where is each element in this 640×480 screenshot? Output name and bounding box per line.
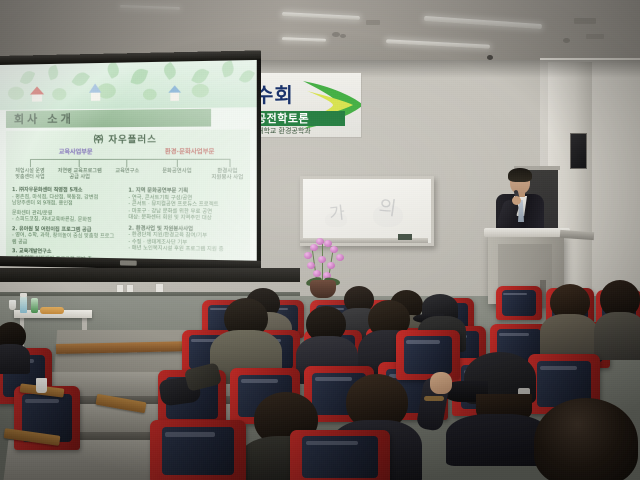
orchid-bloom: [307, 262, 315, 269]
auditorium-seat[interactable]: [150, 420, 246, 480]
orchid-bloom: [330, 246, 338, 253]
projection-screen: 회사 소개 ㈜ 자우플러스 교육사업부문 환경·문화사업부문 체험시설 운영 맞…: [0, 50, 261, 276]
wrist-band: [424, 396, 444, 401]
banner-green-text: 공전학토론: [256, 111, 346, 126]
orchid-pot: [310, 280, 336, 298]
banner-subtitle: 대학교 환경공학과: [257, 127, 311, 135]
presenter-hand: [512, 196, 521, 205]
orchid-bloom: [336, 254, 344, 261]
orchid-bloom: [327, 262, 335, 269]
orchid-bloom: [316, 238, 324, 245]
green-bottle[interactable]: [31, 298, 38, 313]
auditorium-photo: 수회 공전학토론 대학교 환경공학과: [0, 0, 640, 480]
audience-member: [0, 322, 30, 368]
whiteboard-smudge: [325, 213, 347, 227]
orchid-bloom: [310, 244, 318, 251]
orchid-bloom: [304, 252, 312, 259]
presenter-hair: [508, 168, 532, 182]
whiteboard-eraser[interactable]: [398, 234, 412, 240]
audience-shoulders: [594, 312, 640, 360]
screen-pull-tab[interactable]: [120, 260, 137, 265]
paper-cup[interactable]: [36, 378, 47, 393]
audience-member: [540, 284, 598, 356]
presentation-slide: 회사 소개 ㈜ 자우플러스 교육사업부문 환경·문화사업부문 체험시설 운영 맞…: [0, 60, 257, 262]
podium-top-surface: [484, 228, 570, 237]
snack-tray[interactable]: [40, 307, 64, 314]
audience-member: [594, 280, 640, 356]
wall-banner: 수회 공전학토론 대학교 환경공학과: [250, 72, 362, 138]
whiteboard-smudge: [373, 205, 403, 227]
audience-hand: [430, 372, 452, 394]
paper-cup[interactable]: [9, 300, 16, 310]
auditorium-seat[interactable]: [496, 286, 542, 320]
orchid-bloom: [318, 256, 326, 263]
projector-glare: [0, 60, 257, 262]
orchid-bloom: [313, 270, 321, 277]
auditorium-seat[interactable]: [290, 430, 390, 480]
bottle-cap: [20, 293, 27, 297]
audience-head: [534, 398, 638, 480]
wall-dark-band: [0, 268, 300, 282]
audience-member: [528, 398, 640, 480]
wall-speaker: [570, 133, 587, 169]
water-bottle[interactable]: [20, 296, 27, 313]
audience-shoulders: [0, 344, 30, 374]
